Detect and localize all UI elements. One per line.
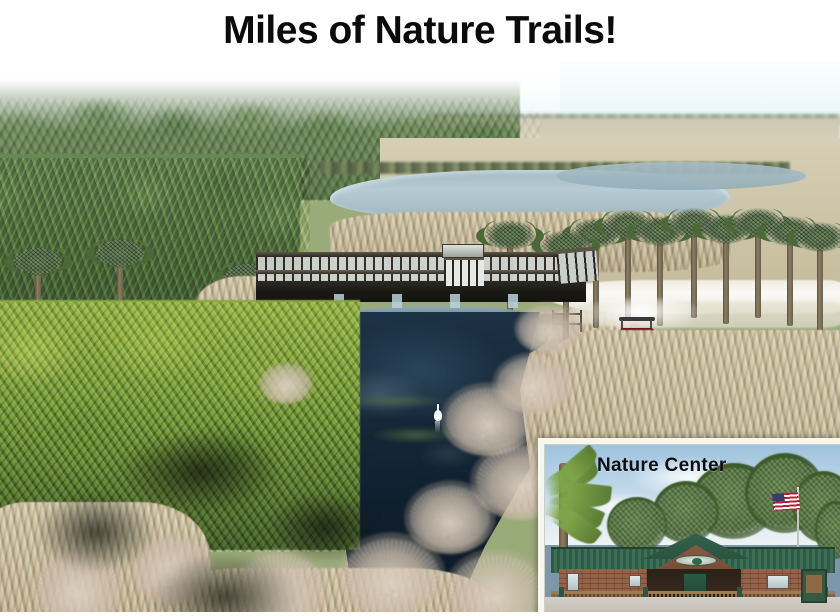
egret-reflection: [435, 421, 440, 433]
egret-body: [434, 410, 442, 421]
nature-center-building: [551, 531, 835, 607]
palm-crown: [794, 220, 840, 252]
bridge-mid-rail: [256, 270, 586, 274]
bridge-approach-railing: [556, 247, 599, 284]
bridge-overlook-platform: [444, 256, 484, 286]
inset-caption: Nature Center: [597, 455, 727, 477]
slide-bottom-margin: [0, 612, 840, 616]
foreground-shadow: [270, 492, 380, 562]
muhly-grass-plume: [514, 302, 584, 354]
palm-trunk: [755, 232, 761, 318]
bridge-interpretive-sign: [442, 244, 484, 258]
slide: Miles of Nature Trails!: [0, 0, 840, 616]
page-title: Miles of Nature Trails!: [0, 8, 840, 54]
gable-emblem-sign: [675, 555, 717, 566]
palm-trunk: [787, 240, 793, 326]
foreground-shadow: [120, 432, 280, 512]
window: [567, 573, 579, 591]
foreground-shadow: [36, 492, 156, 572]
muhly-grass-plume: [492, 352, 576, 414]
american-flag-icon: [772, 492, 801, 511]
muhly-grass-plume: [258, 362, 314, 404]
palm-trunk: [723, 238, 729, 324]
window: [767, 575, 789, 589]
window: [629, 575, 641, 587]
bridge-top-rail: [256, 252, 586, 257]
nature-center-photo: Nature Center: [544, 444, 840, 616]
information-kiosk: [801, 569, 827, 603]
white-egret: [433, 404, 442, 426]
palm-trunk: [817, 246, 823, 332]
nature-center-inset: Nature Center: [538, 438, 840, 616]
bridge-balusters: [256, 255, 586, 281]
